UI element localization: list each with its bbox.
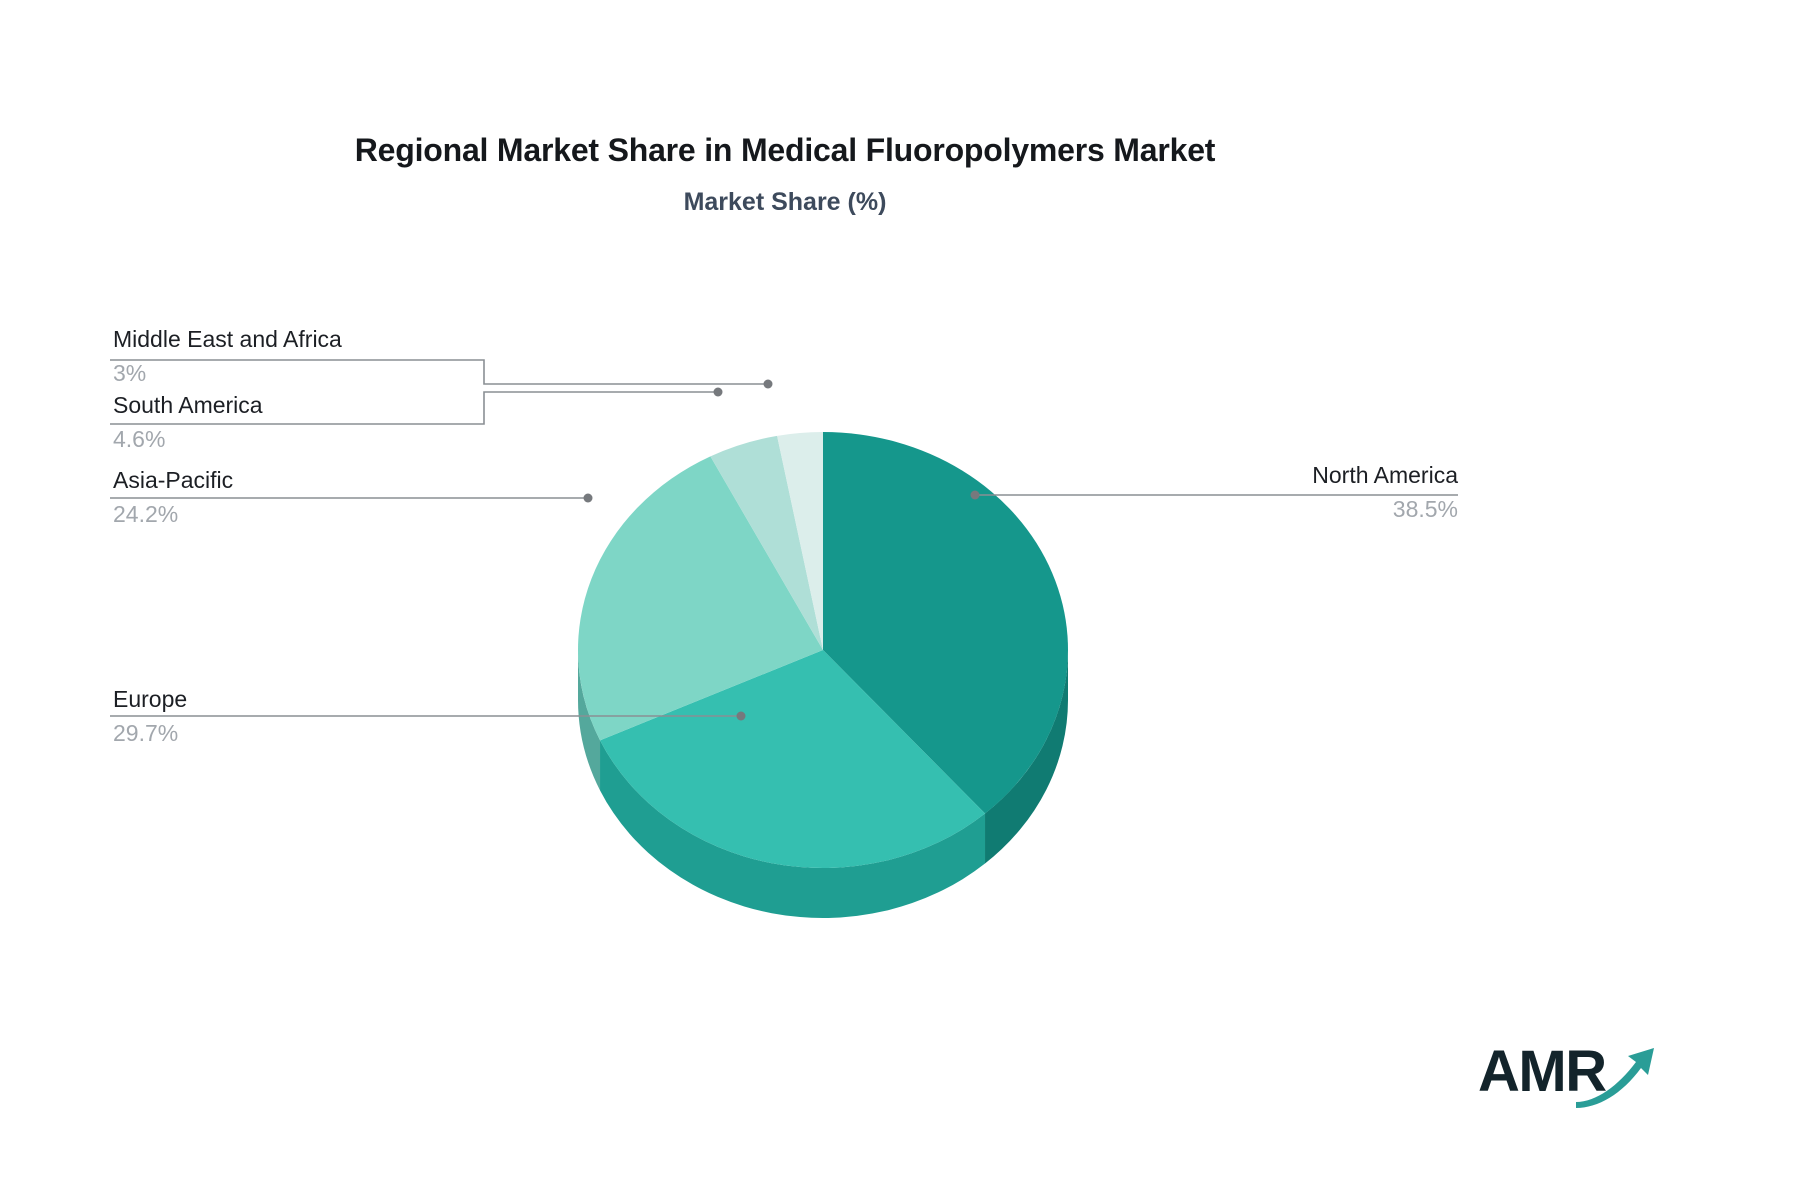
callout-label-asia-pacific: Asia-Pacific bbox=[113, 467, 233, 494]
callout-value-middle-east-and-africa: 3% bbox=[113, 360, 342, 387]
callout-label-north-america: North America bbox=[1058, 462, 1458, 489]
callout-value-north-america: 38.5% bbox=[1058, 496, 1458, 523]
callout-label-middle-east-and-africa: Middle East and Africa bbox=[113, 326, 342, 353]
leader-dot-south-america bbox=[714, 388, 723, 397]
callout-asia-pacific[interactable]: Asia-Pacific 24.2% bbox=[113, 467, 233, 528]
callout-value-europe: 29.7% bbox=[113, 720, 187, 747]
chart-canvas: Regional Market Share in Medical Fluorop… bbox=[0, 0, 1800, 1196]
callout-label-europe: Europe bbox=[113, 686, 187, 713]
callout-label-south-america: South America bbox=[113, 392, 263, 419]
leader-dot-middle-east-and-africa bbox=[764, 380, 773, 389]
callout-value-south-america: 4.6% bbox=[113, 426, 263, 453]
callout-europe[interactable]: Europe 29.7% bbox=[113, 686, 187, 747]
callout-value-asia-pacific: 24.2% bbox=[113, 501, 233, 528]
growth-arrow-icon bbox=[1574, 1042, 1656, 1108]
leader-dot-north-america bbox=[971, 491, 980, 500]
pie-chart bbox=[0, 0, 1800, 1196]
leader-dot-asia-pacific bbox=[584, 494, 593, 503]
callout-south-america[interactable]: South America 4.6% bbox=[113, 392, 263, 453]
callout-north-america[interactable]: North America 38.5% bbox=[1058, 462, 1458, 523]
pie-slices bbox=[578, 432, 1068, 868]
amr-logo: AMR bbox=[1478, 1032, 1653, 1108]
callout-middle-east-and-africa[interactable]: Middle East and Africa 3% bbox=[113, 326, 342, 387]
leader-dot-europe bbox=[737, 712, 746, 721]
